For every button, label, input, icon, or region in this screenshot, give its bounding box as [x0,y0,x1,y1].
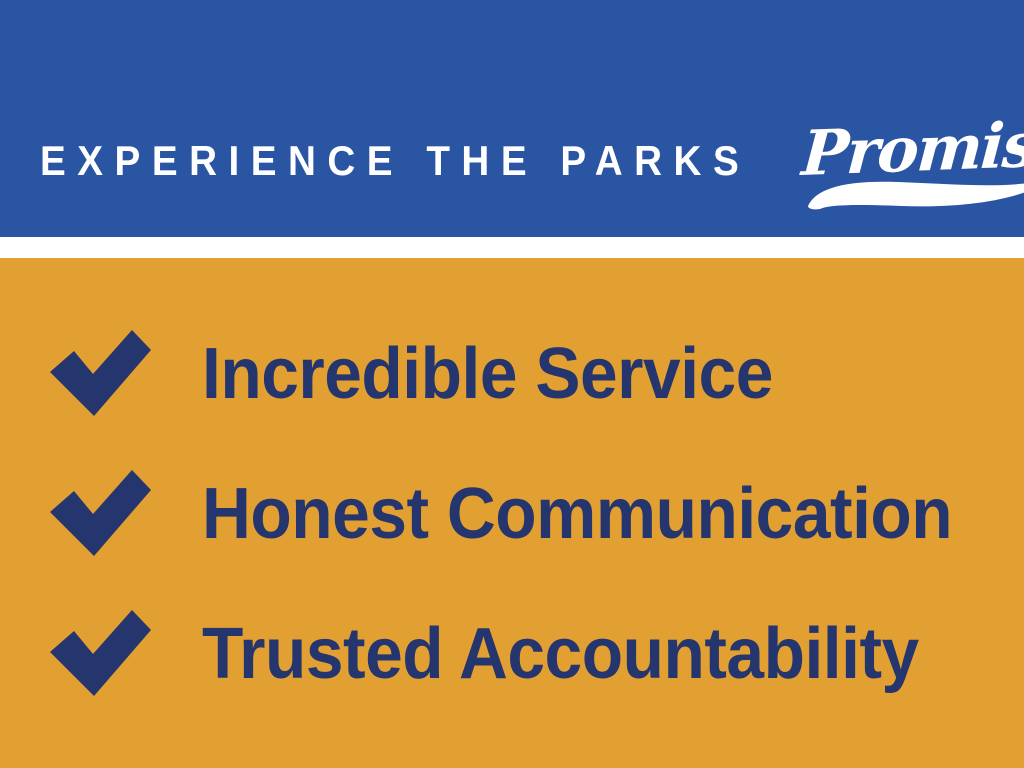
promise-item-label: Trusted Accountability [202,618,919,690]
check-icon [46,468,154,560]
list-item: Trusted Accountability [46,602,1006,706]
list-item: Honest Communication [46,462,1006,566]
promise-graphic: EXPERIENCE THE PARKS Promise Incredible … [0,0,1024,768]
promise-panel: Incredible Service Honest Communication … [0,258,1024,768]
divider-gap [0,237,1024,258]
header-band: EXPERIENCE THE PARKS Promise [0,0,1024,237]
promise-item-label: Honest Communication [202,478,952,550]
check-icon [46,328,154,420]
promise-list: Incredible Service Honest Communication … [0,258,1024,768]
header-content: EXPERIENCE THE PARKS Promise [40,94,1000,184]
promise-item-label: Incredible Service [202,338,773,410]
headline-text: EXPERIENCE THE PARKS [40,140,750,184]
list-item: Incredible Service [46,322,1006,426]
script-word-group: Promise [800,125,1024,184]
check-icon [46,608,154,700]
script-word-promise: Promise [800,115,1024,184]
